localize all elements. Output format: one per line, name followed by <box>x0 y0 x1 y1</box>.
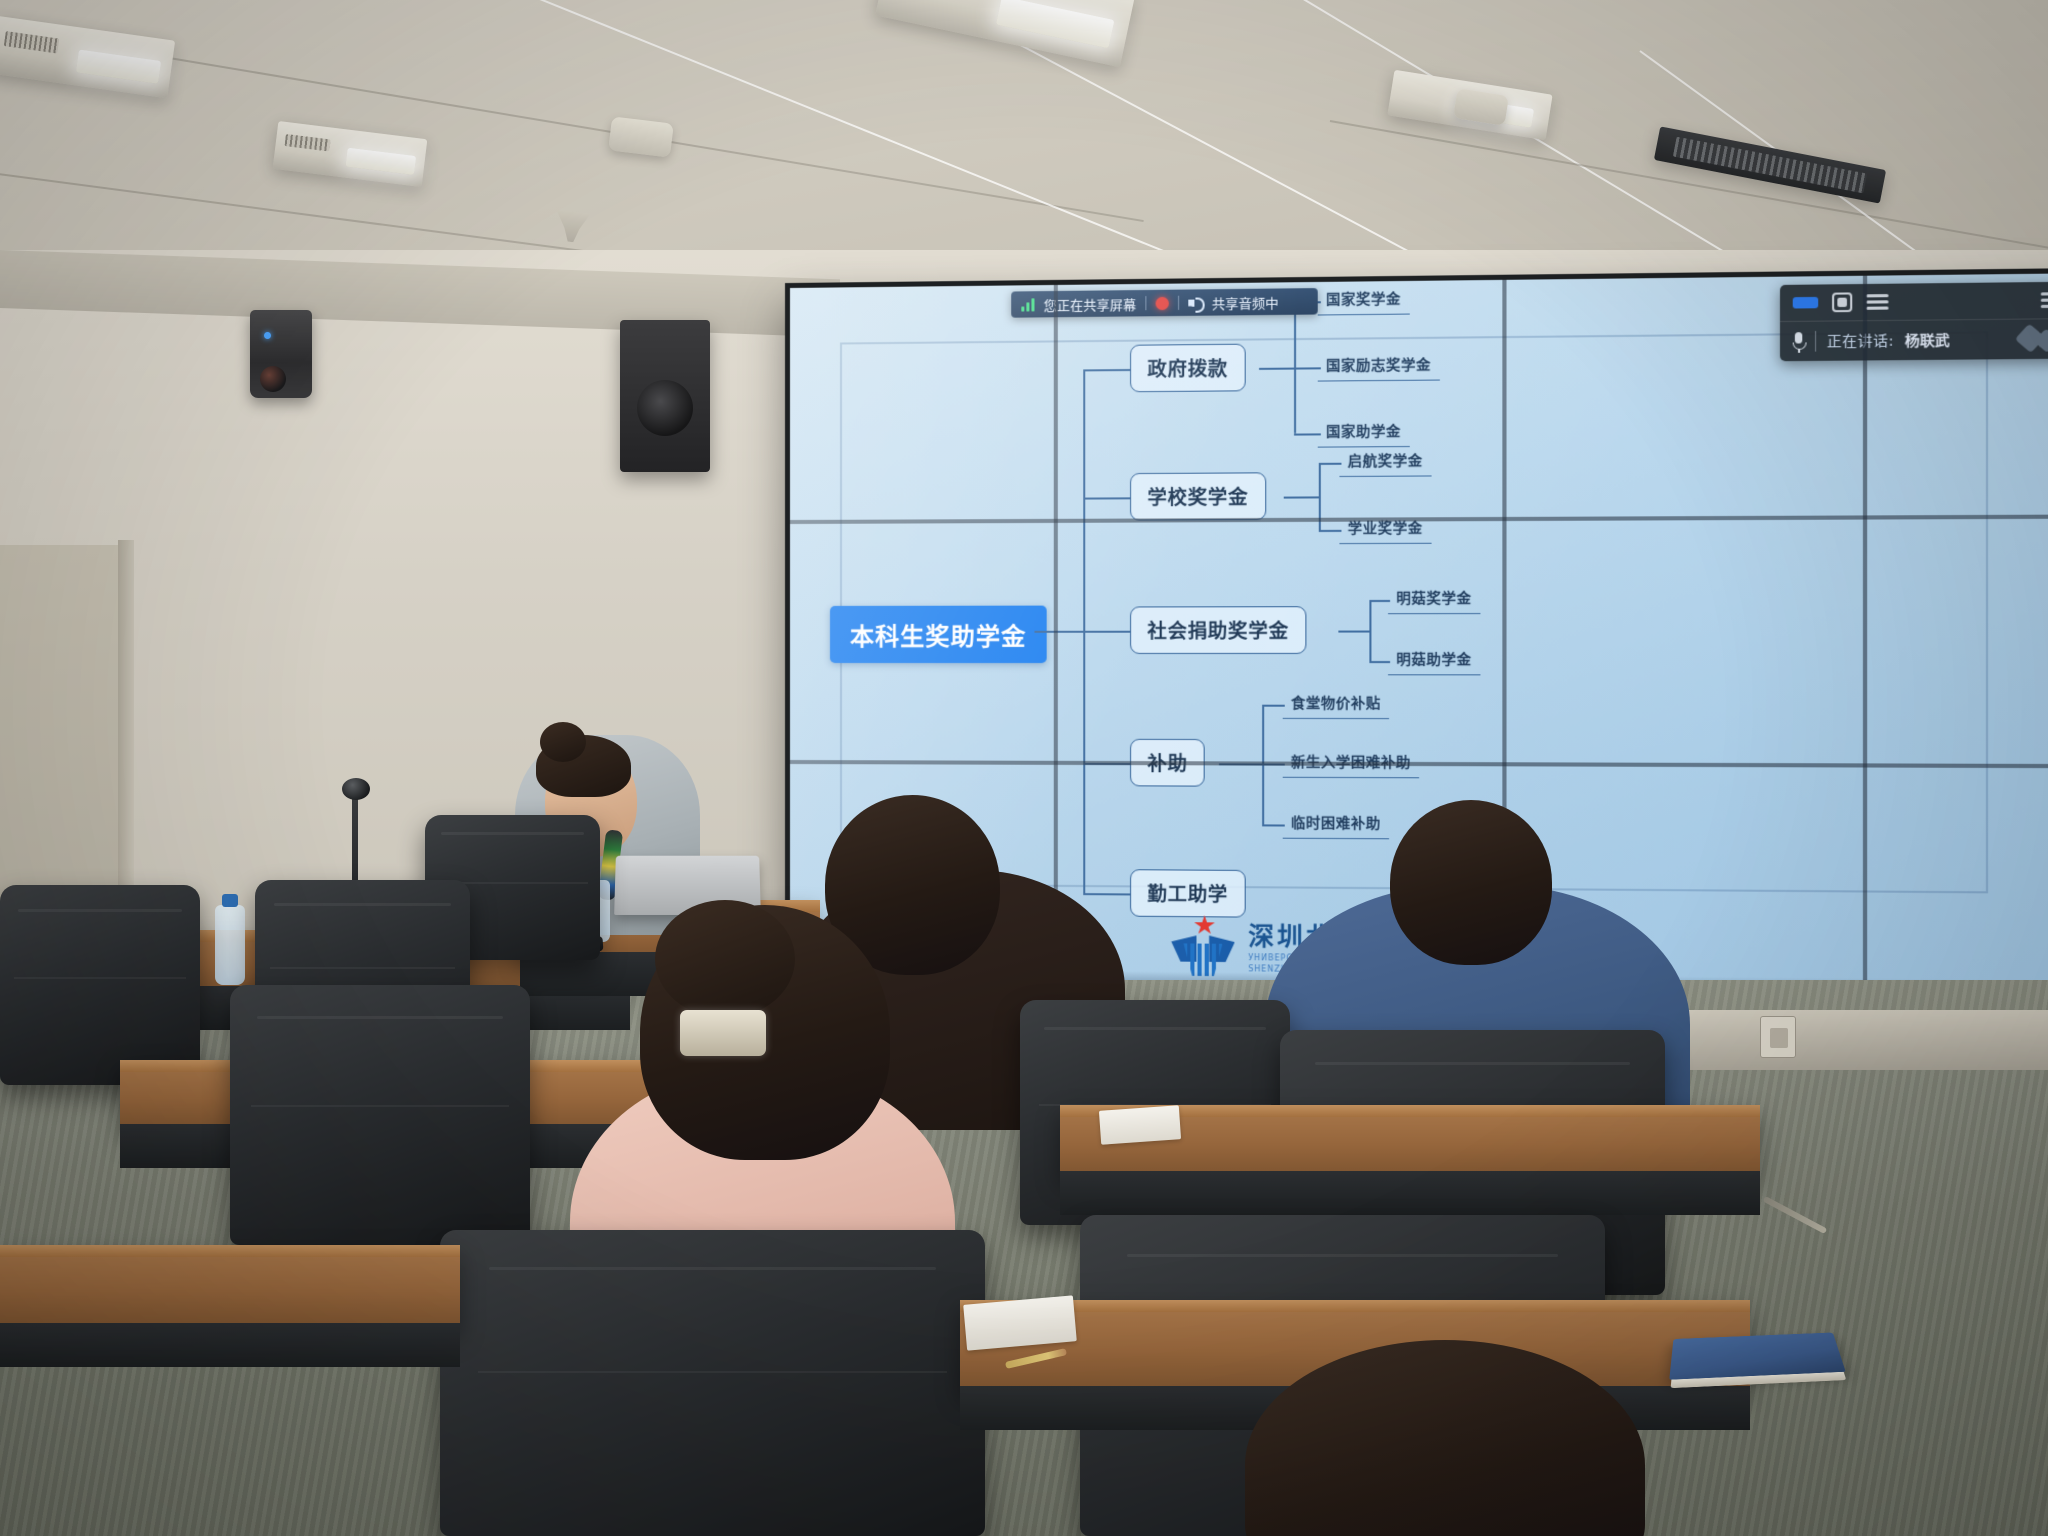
notebook-icon <box>1669 1333 1846 1381</box>
ceiling-light <box>1654 126 1886 203</box>
front-table <box>0 1245 460 1329</box>
ceiling-light <box>875 0 1135 67</box>
connector <box>1259 368 1294 370</box>
power-outlet-icon <box>1760 1016 1796 1058</box>
speaking-label: 正在讲话: <box>1827 330 1894 351</box>
smoke-detector <box>608 116 674 157</box>
mindmap-leaf-node: 明菇奖学金 <box>1388 584 1480 614</box>
chair <box>230 985 530 1245</box>
participants-list-icon[interactable] <box>1866 294 1888 310</box>
more-options-icon[interactable] <box>2041 292 2048 308</box>
mindmap-branch-node: 学校奖学金 <box>1130 472 1266 520</box>
connector <box>1262 824 1285 826</box>
mindmap-leaf-node: 国家助学金 <box>1318 417 1410 447</box>
mindmap-leaf-node: 启航奖学金 <box>1339 447 1431 477</box>
connector <box>1083 893 1130 895</box>
mindmap-branch-node: 勤工助学 <box>1130 869 1245 917</box>
mindmap-leaf-node: 国家励志奖学金 <box>1318 351 1440 382</box>
layout-window-icon[interactable] <box>1832 292 1852 312</box>
display-bezel <box>1863 276 1867 1041</box>
speaker-icon <box>1188 296 1202 309</box>
wall-speaker-icon <box>620 320 710 472</box>
water-bottle <box>215 905 245 985</box>
divider <box>1145 296 1146 310</box>
mindmap-leaf-node: 明菇助学金 <box>1388 646 1480 676</box>
connector <box>1319 530 1342 532</box>
attendee-head <box>1390 800 1552 965</box>
desk-microphone-head-icon <box>342 778 370 800</box>
active-speaker-bar: 正在讲话: 杨联武 <box>1780 319 2048 361</box>
speaking-name: 杨联武 <box>1905 330 1950 351</box>
mindmap-leaf-node: 国家奖学金 <box>1318 285 1410 316</box>
connector <box>1369 600 1371 661</box>
mindmap-leaf-node: 临时困难补助 <box>1283 809 1389 839</box>
mindmap-root-node: 本科生奖助学金 <box>830 606 1047 663</box>
connector <box>1369 661 1390 663</box>
red-star-icon <box>1194 915 1216 935</box>
conference-room-photo: 本科生奖助学金 政府拨款 国家奖学金 国家励志奖学金 国家助学金 学校奖学金 <box>0 0 2048 1536</box>
chair <box>0 885 200 1085</box>
connector <box>1083 631 1130 633</box>
connector <box>1369 600 1390 602</box>
university-emblem-icon <box>1171 915 1235 976</box>
connector <box>1083 369 1130 371</box>
meeting-toolbar[interactable] <box>1780 282 2048 322</box>
ceiling-light <box>273 121 428 187</box>
mindmap-branch-node: 社会捐助奖学金 <box>1130 606 1306 654</box>
video-toggle-icon[interactable] <box>1793 297 1818 309</box>
chair <box>440 1230 985 1536</box>
signal-bars-icon <box>1021 298 1034 311</box>
ceiling-hook <box>554 210 591 243</box>
paper-sheet <box>963 1295 1077 1350</box>
microphone-icon[interactable] <box>1793 332 1805 352</box>
connector <box>1319 463 1342 465</box>
attendee-hair-bun <box>655 900 795 1018</box>
record-dot-icon[interactable] <box>1156 296 1169 309</box>
ceiling-light <box>0 16 175 98</box>
divider <box>1178 296 1179 310</box>
audio-share-label: 共享音频中 <box>1212 292 1279 312</box>
connector <box>1262 705 1285 707</box>
connector <box>1284 496 1319 498</box>
connector <box>1034 631 1083 633</box>
ceiling-camera-icon <box>250 310 312 398</box>
divider <box>1815 331 1816 352</box>
mindmap-leaf-node: 食堂物价补贴 <box>1283 689 1389 719</box>
wall-skirting <box>1640 1010 2048 1070</box>
hair-clip-icon <box>680 1010 766 1056</box>
connector <box>1083 497 1130 499</box>
mindmap-branch-node: 政府拨款 <box>1130 344 1245 393</box>
tencent-meeting-logo-icon <box>2019 325 2048 352</box>
paper-sheet <box>1099 1105 1181 1144</box>
connector <box>1338 631 1369 633</box>
meeting-control-panel[interactable]: 正在讲话: 杨联武 <box>1780 282 2048 362</box>
presenter-hair-bun <box>540 722 586 762</box>
